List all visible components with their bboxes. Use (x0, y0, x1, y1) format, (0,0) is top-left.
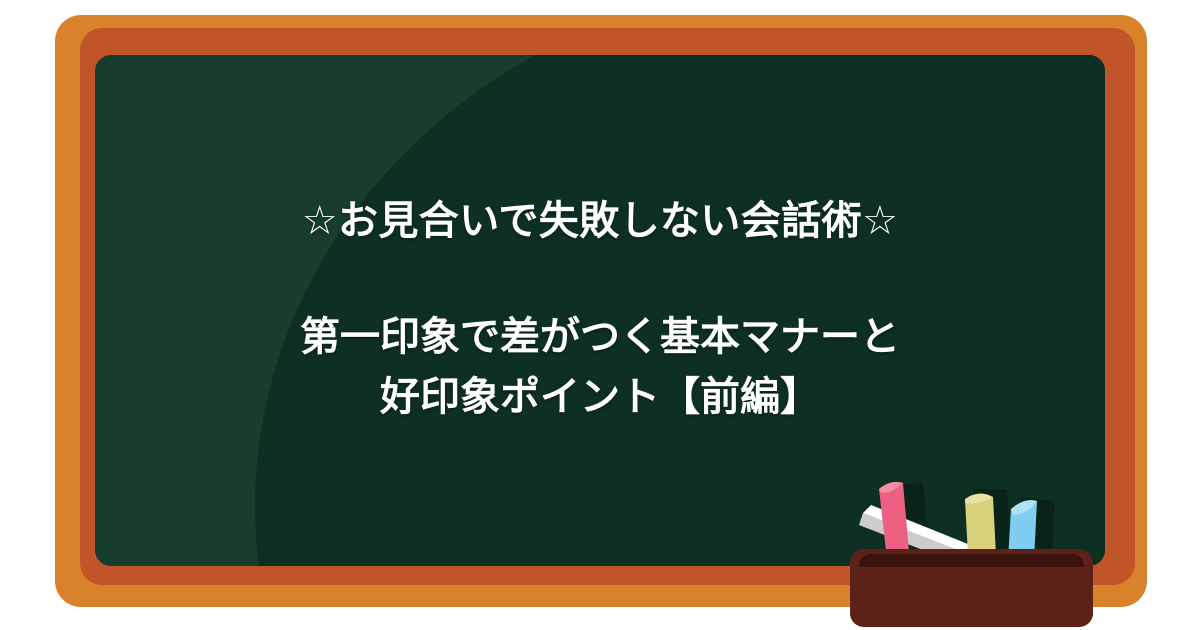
subhead-text: 第一印象で差がつく基本マナーと 好印象ポイント【前編】 (300, 307, 900, 427)
subhead-line-2: 好印象ポイント【前編】 (300, 367, 900, 427)
title-card-canvas: ☆お見合いで失敗しない会話術☆ 第一印象で差がつく基本マナーと 好印象ポイント【… (0, 0, 1200, 630)
chalk-tray-front-panel (850, 567, 1093, 627)
subhead-line-1: 第一印象で差がつく基本マナーと (300, 307, 900, 367)
headline-text: ☆お見合いで失敗しない会話術☆ (302, 195, 899, 247)
chalk-tray-group (845, 455, 1105, 630)
